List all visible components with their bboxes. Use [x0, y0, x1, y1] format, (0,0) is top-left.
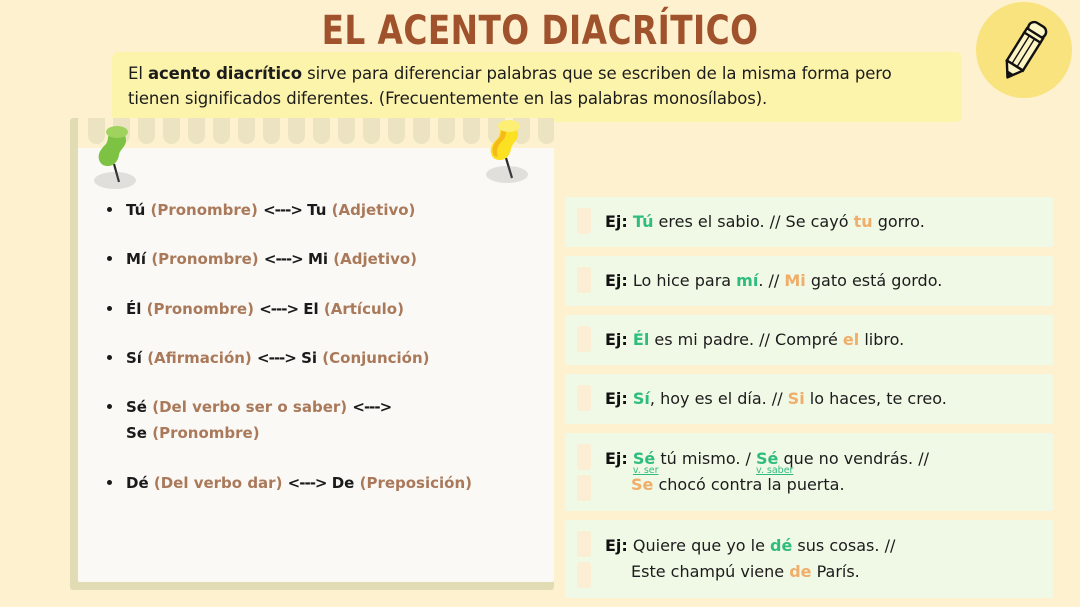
example-label: Ej:	[605, 330, 628, 349]
unaccented-word: de	[789, 562, 811, 581]
example-text-block: Ej: Quiere que yo le dé sus cosas. //Est…	[605, 533, 895, 585]
example-text: gorro.	[873, 212, 925, 231]
card-accent-bar	[577, 444, 591, 470]
accented-word: Sí	[633, 389, 650, 408]
pair-word-plain: Se	[126, 424, 147, 442]
word-pair-list: Tú (Pronombre) <---> Tu (Adjetivo)Mí (Pr…	[104, 200, 554, 522]
pair-tag-plain: (Artículo)	[324, 300, 404, 318]
pair-tag-plain: (Preposición)	[360, 474, 472, 492]
subtitle-line-1: El acento diacrítico sirve para diferenc…	[128, 61, 946, 86]
pair-arrow: <--->	[259, 300, 298, 318]
annotated-word: Sév. ser	[633, 446, 655, 472]
word-pair-item: Sé (Del verbo ser o saber) <--->Se (Pron…	[104, 397, 554, 444]
pencil-icon	[976, 2, 1072, 98]
card-accent-bar	[577, 267, 591, 293]
example-text: gato está gordo.	[806, 271, 943, 290]
example-text: , hoy es el día. //	[650, 389, 788, 408]
annotated-word: Sév. saber	[756, 446, 778, 472]
pair-arrow: <--->	[288, 474, 327, 492]
example-card: Ej: Quiere que yo le dé sus cosas. //Est…	[565, 520, 1053, 598]
pair-word-plain: Si	[301, 349, 317, 367]
example-line: Ej: Quiere que yo le dé sus cosas. //	[605, 533, 895, 559]
subtitle-pre: El	[128, 64, 148, 83]
accented-word: Él	[633, 330, 649, 349]
card-accent-bar	[577, 562, 591, 588]
pair-tag-accented: (Pronombre)	[151, 250, 258, 268]
example-text: lo haces, te creo.	[805, 389, 947, 408]
example-line: Ej: Sév. ser tú mismo. / Sév. saber que …	[605, 446, 929, 472]
pair-word-accented: Sé	[126, 398, 147, 416]
notepad-tab	[388, 118, 405, 144]
pair-word-accented: Sí	[126, 349, 142, 367]
card-accent-bar	[577, 531, 591, 557]
subtitle-box: El acento diacrítico sirve para diferenc…	[112, 52, 962, 122]
notepad-tab	[438, 118, 455, 144]
pair-word-plain: El	[303, 300, 318, 318]
example-card: Ej: Sév. ser tú mismo. / Sév. saber que …	[565, 433, 1053, 511]
pair-word-accented: Tú	[126, 201, 145, 219]
pair-word-accented: Mí	[126, 250, 146, 268]
pair-word-plain: De	[332, 474, 355, 492]
pair-word-accented: Dé	[126, 474, 149, 492]
examples-list: Ej: Tú eres el sabio. // Se cayó tu gorr…	[565, 197, 1053, 607]
word-pair-item: Dé (Del verbo dar) <---> De (Preposición…	[104, 473, 554, 493]
example-text-block: Ej: Lo hice para mí. // Mi gato está gor…	[605, 268, 942, 294]
word-pair-item: Él (Pronombre) <---> El (Artículo)	[104, 299, 554, 319]
pair-tag-accented: (Del verbo dar)	[154, 474, 283, 492]
example-text: es mi padre. // Compré	[649, 330, 843, 349]
infographic-page: EL ACENTO DIACRÍTICO El acento diacrític…	[0, 0, 1080, 607]
notepad-tab	[138, 118, 155, 144]
unaccented-word: el	[843, 330, 859, 349]
example-text-block: Ej: Tú eres el sabio. // Se cayó tu gorr…	[605, 209, 925, 235]
pair-tag-plain: (Pronombre)	[152, 424, 259, 442]
pair-word-plain: Tu	[307, 201, 326, 219]
word-pair-item: Tú (Pronombre) <---> Tu (Adjetivo)	[104, 200, 554, 220]
example-text-block: Ej: Sév. ser tú mismo. / Sév. saber que …	[605, 446, 929, 498]
example-card: Ej: Sí, hoy es el día. // Si lo haces, t…	[565, 374, 1053, 424]
pair-word-plain: Mi	[308, 250, 328, 268]
example-text: sus cosas. //	[792, 536, 895, 555]
subtitle-post: sirve para diferenciar palabras que se e…	[302, 64, 892, 83]
page-title: EL ACENTO DIACRÍTICO	[97, 8, 983, 54]
notepad-tab	[313, 118, 330, 144]
pair-tag-accented: (Afirmación)	[147, 349, 252, 367]
pair-arrow: <--->	[257, 349, 296, 367]
example-text-block: Ej: Sí, hoy es el día. // Si lo haces, t…	[605, 386, 947, 412]
unaccented-word: Si	[788, 389, 805, 408]
pair-tag-plain: (Conjunción)	[322, 349, 429, 367]
example-label: Ej:	[605, 449, 628, 468]
pair-tag-accented: (Del verbo ser o saber)	[152, 398, 347, 416]
word-annotation: v. ser	[633, 463, 659, 478]
pair-tag-plain: (Adjetivo)	[332, 201, 416, 219]
pair-arrow: <--->	[263, 201, 302, 219]
example-line: Este champú viene de París.	[605, 559, 895, 585]
example-text: Lo hice para	[633, 271, 736, 290]
example-card: Ej: Él es mi padre. // Compré el libro.	[565, 315, 1053, 365]
card-accent-bar	[577, 208, 591, 234]
example-text: Este champú viene	[631, 562, 789, 581]
subtitle-bold: acento diacrítico	[148, 64, 302, 83]
pair-tag-accented: (Pronombre)	[147, 300, 254, 318]
example-label: Ej:	[605, 536, 628, 555]
card-accent-bar	[577, 475, 591, 501]
subtitle-line-2: tienen significados diferentes. (Frecuen…	[128, 86, 946, 111]
accented-word: mí	[736, 271, 758, 290]
notepad-tab	[188, 118, 205, 144]
pair-tag-plain: (Adjetivo)	[333, 250, 417, 268]
example-card: Ej: Lo hice para mí. // Mi gato está gor…	[565, 256, 1053, 306]
word-pair-item: Sí (Afirmación) <---> Si (Conjunción)	[104, 348, 554, 368]
word-annotation: v. saber	[756, 463, 793, 478]
example-line: Ej: Lo hice para mí. // Mi gato está gor…	[605, 268, 942, 294]
pair-word-accented: Él	[126, 300, 141, 318]
pushpin-yellow-icon	[478, 114, 532, 192]
notepad-tab	[263, 118, 280, 144]
pair-arrow: <--->	[264, 250, 303, 268]
notepad-tab	[338, 118, 355, 144]
example-line: Ej: Sí, hoy es el día. // Si lo haces, t…	[605, 386, 947, 412]
example-label: Ej:	[605, 212, 628, 231]
notepad-tab	[288, 118, 305, 144]
unaccented-word: tu	[854, 212, 873, 231]
example-line: Ej: Tú eres el sabio. // Se cayó tu gorr…	[605, 209, 925, 235]
notepad-tab	[538, 118, 554, 144]
example-text: que no vendrás. //	[778, 449, 929, 468]
example-text: Quiere que yo le	[633, 536, 770, 555]
notepad-tab	[413, 118, 430, 144]
example-text: eres el sabio. // Se cayó	[653, 212, 853, 231]
unaccented-word: Mi	[784, 271, 805, 290]
pair-tag-accented: (Pronombre)	[151, 201, 258, 219]
accented-word: dé	[770, 536, 792, 555]
notepad-tab	[213, 118, 230, 144]
example-text: . //	[758, 271, 784, 290]
notepad-tab	[238, 118, 255, 144]
card-accent-bar	[577, 385, 591, 411]
accented-word: Tú	[633, 212, 654, 231]
card-accent-bar	[577, 326, 591, 352]
example-text: chocó contra la puerta.	[653, 475, 844, 494]
example-card: Ej: Tú eres el sabio. // Se cayó tu gorr…	[565, 197, 1053, 247]
example-label: Ej:	[605, 271, 628, 290]
notepad-tab	[363, 118, 380, 144]
word-pair-item: Mí (Pronombre) <---> Mi (Adjetivo)	[104, 249, 554, 269]
example-text: París.	[812, 562, 860, 581]
pushpin-green-icon	[86, 120, 140, 198]
example-text: libro.	[859, 330, 904, 349]
pair-arrow: <--->	[352, 398, 391, 416]
example-text: tú mismo. /	[655, 449, 756, 468]
notepad-tab	[163, 118, 180, 144]
example-line: Ej: Él es mi padre. // Compré el libro.	[605, 327, 904, 353]
example-label: Ej:	[605, 389, 628, 408]
example-text-block: Ej: Él es mi padre. // Compré el libro.	[605, 327, 904, 353]
